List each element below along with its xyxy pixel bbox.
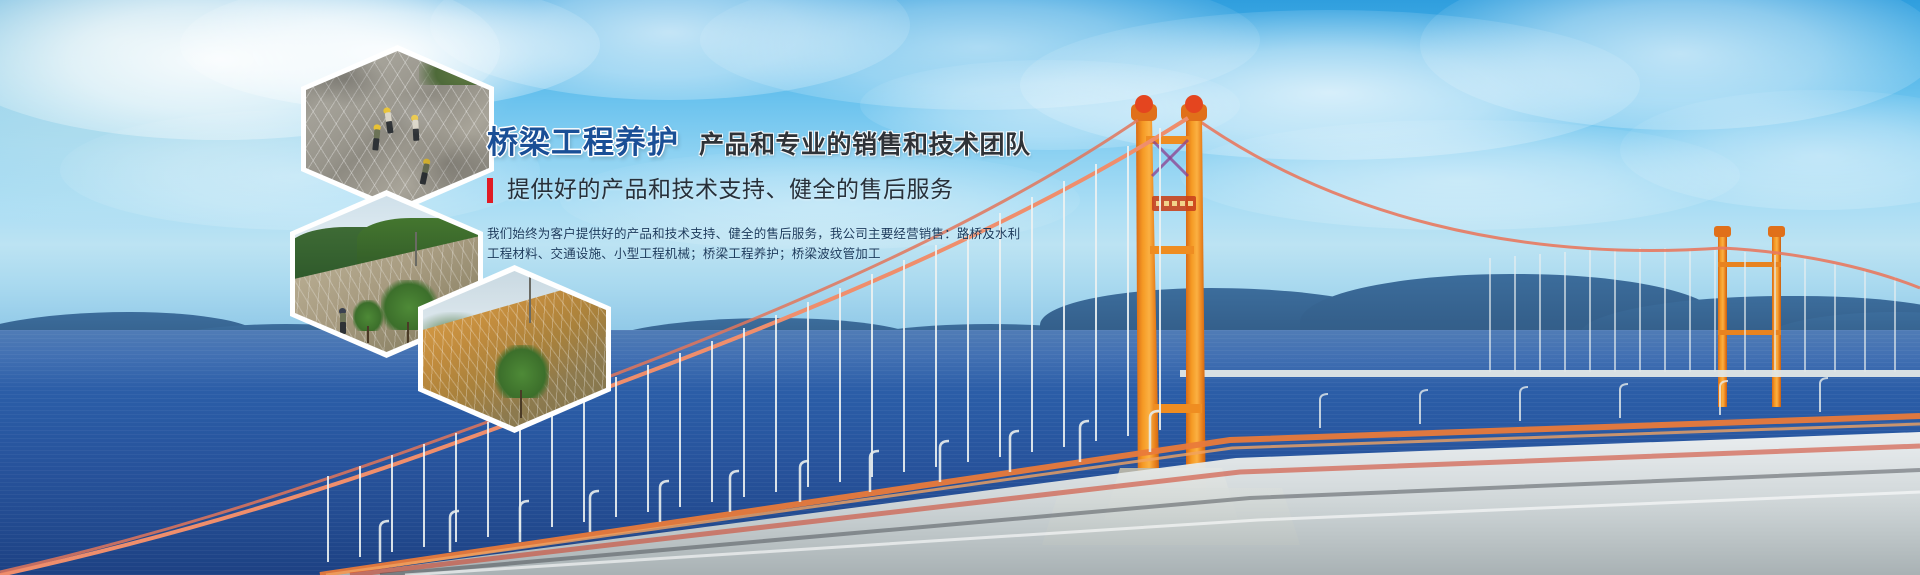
headline-secondary: 产品和专业的销售和技术团队 [699,132,1031,157]
utility-pole [529,277,531,323]
description-paragraph: 我们始终为客户提供好的产品和技术支持、健全的售后服务，我公司主要经营销售：路桥及… [487,224,1127,264]
tree [495,345,549,417]
accent-bar [487,178,493,203]
bridge-deck-main [320,408,1920,575]
subheadline-text: 提供好的产品和技术支持、健全的售后服务 [507,179,954,202]
roadside-slope-image [423,271,606,427]
description-line-2: 工程材料、交通设施、小型工程机械；桥梁工程养护；桥梁波纹管加工 [487,244,1127,264]
hero-banner: 桥梁工程养护 产品和专业的销售和技术团队 提供好的产品和技术支持、健全的售后服务… [0,0,1920,575]
tree [353,300,383,342]
rock-slope-image [306,51,489,207]
headline: 桥梁工程养护 产品和专业的销售和技术团队 [487,128,1127,159]
bridge-deck-far [1180,370,1920,377]
main-cable-far [1188,113,1722,250]
headline-primary: 桥梁工程养护 [487,128,679,159]
subheadline: 提供好的产品和技术支持、健全的售后服务 [487,178,1127,203]
utility-pole [415,232,417,266]
banner-copy: 桥梁工程养护 产品和专业的销售和技术团队 提供好的产品和技术支持、健全的售后服务… [487,128,1127,264]
photo-hex-inner [306,51,489,207]
photo-hex-inner [423,271,606,427]
hanger-cables-far [1490,248,1895,372]
description-line-1: 我们始终为客户提供好的产品和技术支持、健全的售后服务，我公司主要经营销售：路桥及… [487,224,1127,244]
suspension-bridge [0,0,1920,575]
